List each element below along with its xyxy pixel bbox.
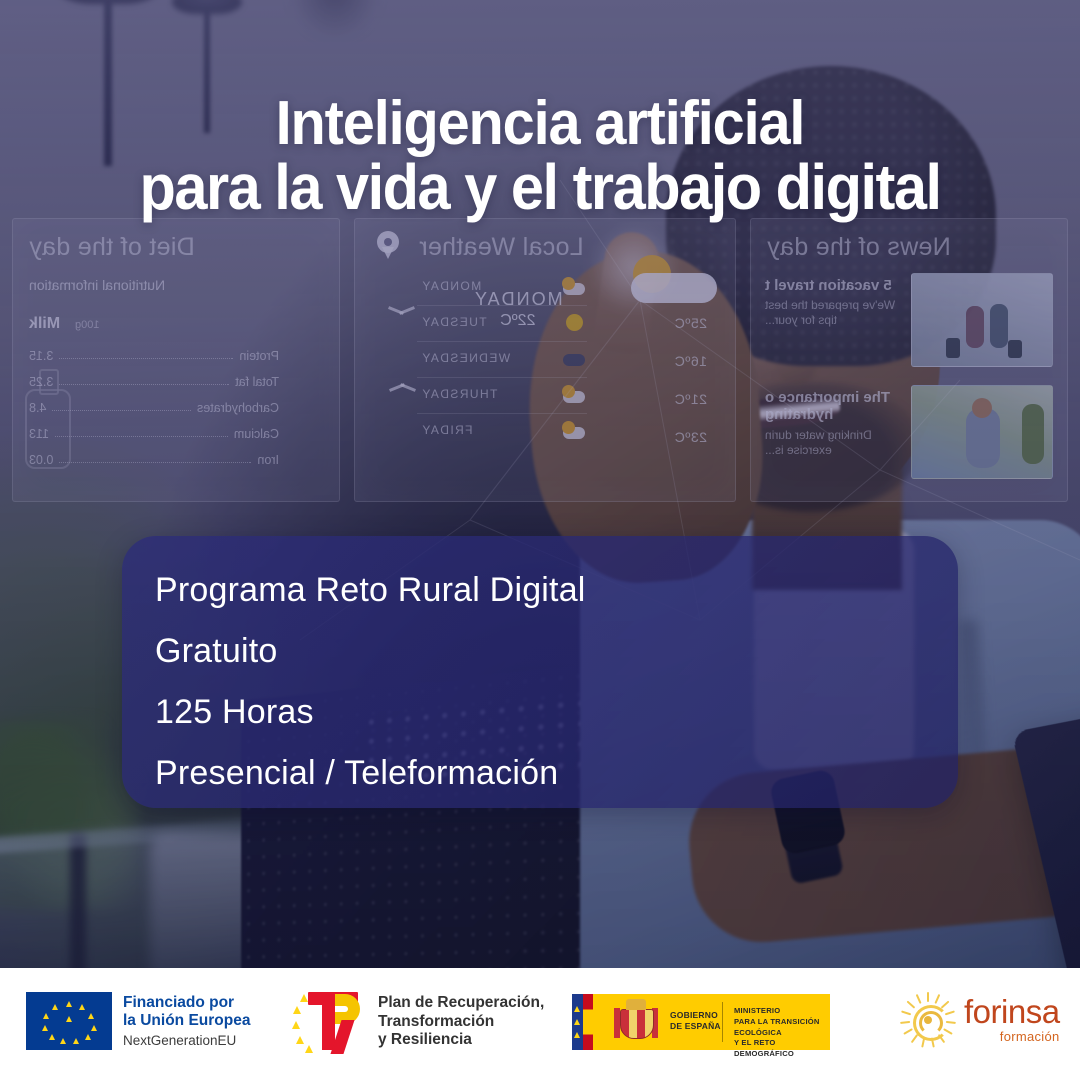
course-info-card: Programa Reto Rural Digital Gratuito 125…	[122, 536, 958, 808]
ministerio-line-1: MINISTERIO	[734, 1006, 830, 1017]
course-modality: Presencial / Teleformación	[155, 745, 938, 801]
course-duration: 125 Horas	[155, 684, 938, 740]
prtr-logo: Plan de Recuperación, Transformación y R…	[292, 990, 544, 1054]
footer-bar: Financiado por la Unión Europea NextGene…	[0, 968, 1080, 1080]
prtr-line-1: Plan de Recuperación,	[378, 994, 544, 1013]
course-program-name: Programa Reto Rural Digital	[155, 562, 938, 618]
title-line-2: para la vida y el trabajo digital	[38, 155, 1042, 220]
poster-canvas: News of the day 5 vacation travel t We'v…	[0, 0, 1080, 1080]
title-line-1: Inteligencia artificial	[276, 89, 805, 158]
spain-coat-of-arms-icon	[614, 999, 658, 1045]
gobierno-divider	[722, 1002, 723, 1042]
eu-line-1: Financiado por	[123, 994, 250, 1012]
prtr-line-3: y Resiliencia	[378, 1031, 544, 1050]
eu-logo-text: Financiado por la Unión Europea NextGene…	[123, 994, 250, 1049]
footer-logos: Financiado por la Unión Europea NextGene…	[0, 968, 1080, 1080]
prtr-line-2: Transformación	[378, 1013, 544, 1032]
course-info-list: Programa Reto Rural Digital Gratuito 125…	[155, 562, 938, 806]
ministerio-text: MINISTERIO PARA LA TRANSICIÓN ECOLÓGICA …	[734, 1006, 830, 1060]
forinsa-tagline: formación	[964, 1029, 1060, 1044]
forinsa-logo-text: forinsa formación	[964, 996, 1060, 1043]
sun-spiral-icon	[900, 992, 956, 1048]
ministerio-line-2: PARA LA TRANSICIÓN ECOLÓGICA	[734, 1017, 830, 1039]
eu-line-3: NextGenerationEU	[123, 1033, 250, 1048]
eu-flag-icon	[26, 992, 112, 1050]
gobierno-line-2: DE ESPAÑA	[670, 1021, 721, 1032]
page-title: Inteligencia artificial para la vida y e…	[38, 92, 1042, 221]
eu-funding-logo: Financiado por la Unión Europea NextGene…	[26, 992, 250, 1050]
gobierno-line-1: GOBIERNO	[670, 1010, 721, 1021]
prtr-mark-icon	[292, 990, 366, 1054]
forinsa-logo: forinsa formación	[900, 992, 1060, 1048]
forinsa-name: forinsa	[964, 996, 1060, 1027]
ministerio-line-3: Y EL RETO DEMOGRÁFICO	[734, 1038, 830, 1060]
spain-flag-icon	[572, 994, 604, 1050]
eu-line-2: la Unión Europea	[123, 1012, 250, 1030]
gobierno-text: GOBIERNO DE ESPAÑA	[670, 1010, 721, 1032]
gobierno-yellow-box: GOBIERNO DE ESPAÑA MINISTERIO PARA LA TR…	[572, 994, 830, 1050]
prtr-logo-text: Plan de Recuperación, Transformación y R…	[378, 994, 544, 1050]
gobierno-espana-logo: GOBIERNO DE ESPAÑA MINISTERIO PARA LA TR…	[572, 994, 830, 1050]
course-price: Gratuito	[155, 623, 938, 679]
